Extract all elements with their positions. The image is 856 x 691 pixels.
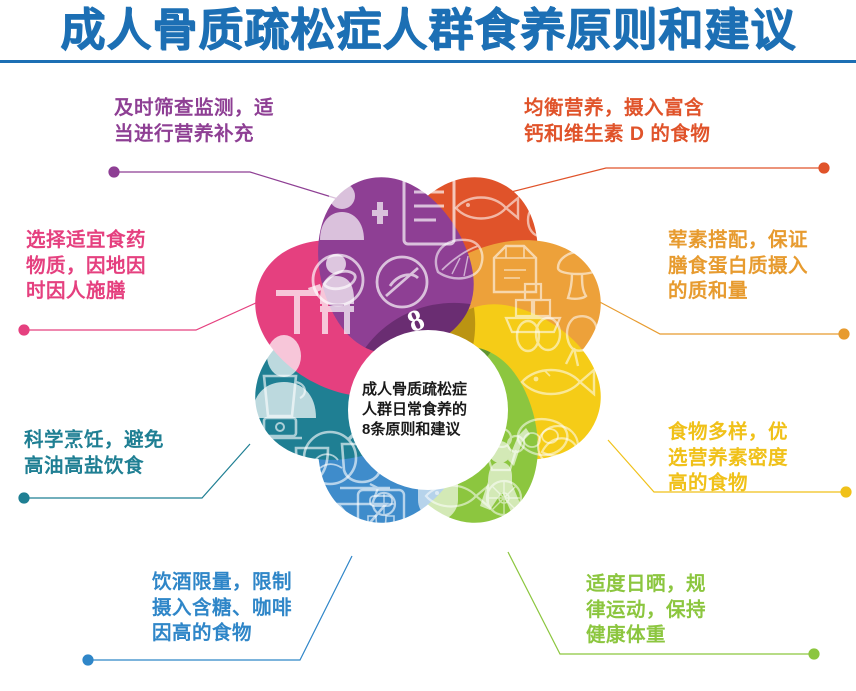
callout-2-line-1: 荤素搭配，保证 [668,228,808,254]
callout-label-4: 适度日晒，规 律运动，保持 健康体重 [586,572,706,649]
callout-label-3: 食物多样，优 选营养素密度 高的食物 [668,420,788,497]
callout-7-line-2: 物质，因地因 [26,254,146,280]
center-hub: 成人骨质疏松症 人群日常食养的 8条原则和建议 [348,330,508,490]
callout-7-line-1: 选择适宜食药 [26,228,146,254]
callout-5-line-3: 因高的食物 [152,621,292,647]
callout-label-8: 及时筛查监测，适 当进行营养补充 [114,96,274,147]
infographic-canvas: 成人骨质疏松症人群食养原则和建议 [0,0,856,691]
callout-label-5: 饮酒限量，限制 摄入含糖、咖啡 因高的食物 [152,570,292,647]
title-underline [0,60,856,63]
center-line-2: 人群日常食养的 [362,400,494,420]
callout-3-line-3: 高的食物 [668,471,788,497]
callout-label-1: 均衡营养，摄入富含 钙和维生素 D 的食物 [524,96,710,147]
callout-1-line-1: 均衡营养，摄入富含 [524,96,710,122]
page-title: 成人骨质疏松症人群食养原则和建议 [0,2,856,58]
callout-5-line-1: 饮酒限量，限制 [152,570,292,596]
center-line-3: 8条原则和建议 [362,420,494,440]
callout-3-line-2: 选营养素密度 [668,446,788,472]
callout-6-line-2: 高油高盐饮食 [24,454,164,480]
callout-8-line-1: 及时筛查监测，适 [114,96,274,122]
callout-1-line-2: 钙和维生素 D 的食物 [524,122,710,148]
callout-label-7: 选择适宜食药 物质，因地因 时因人施膳 [26,228,146,305]
callout-6-line-1: 科学烹饪，避免 [24,428,164,454]
callout-5-line-2: 摄入含糖、咖啡 [152,596,292,622]
callout-label-6: 科学烹饪，避免 高油高盐饮食 [24,428,164,479]
center-text: 成人骨质疏松症 人群日常食养的 8条原则和建议 [362,380,494,441]
callout-2-line-3: 的质和量 [668,279,808,305]
callout-8-line-2: 当进行营养补充 [114,122,274,148]
callout-3-line-1: 食物多样，优 [668,420,788,446]
callout-4-line-1: 适度日晒，规 [586,572,706,598]
center-line-1: 成人骨质疏松症 [362,380,494,400]
callout-7-line-3: 时因人施膳 [26,279,146,305]
callout-4-line-2: 律运动，保持 [586,598,706,624]
callout-4-line-3: 健康体重 [586,623,706,649]
callout-label-2: 荤素搭配，保证 膳食蛋白质摄入 的质和量 [668,228,808,305]
callout-2-line-2: 膳食蛋白质摄入 [668,254,808,280]
